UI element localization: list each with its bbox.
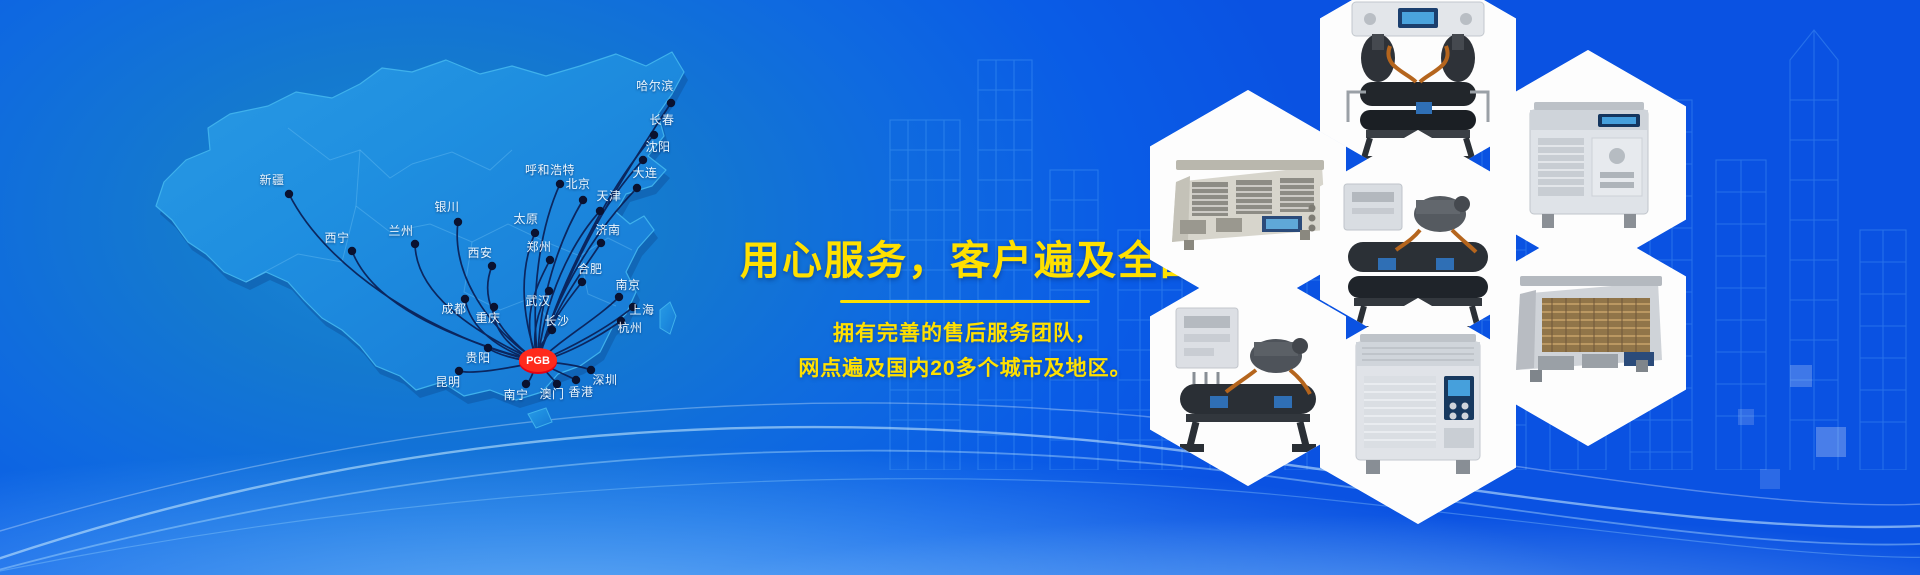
city-label: 大连 <box>632 167 657 179</box>
product-hexagon-grid <box>1150 0 1920 575</box>
city-label: 合肥 <box>577 263 602 275</box>
box-type-water-chiller-photo <box>1320 298 1516 524</box>
hub-marker[interactable]: PGB <box>519 348 557 374</box>
product-hex-condensing-unit[interactable] <box>1150 260 1346 486</box>
city-label: 上海 <box>629 304 654 316</box>
promo-banner: PGB 新疆哈尔滨长春沈阳呼和浩特北京大连天津银川太原兰州西宁西安郑州济南合肥南… <box>0 0 1920 575</box>
city-label: 昆明 <box>435 376 460 388</box>
city-label: 南宁 <box>503 389 528 401</box>
condensing-unit-photo <box>1150 260 1346 486</box>
city-label: 长沙 <box>544 315 569 327</box>
city-label: 兰州 <box>388 225 413 237</box>
city-label: 银川 <box>434 201 459 213</box>
headline-block: 用心服务，客户遍及全国 拥有完善的售后服务团队， 网点遍及国内20多个城市及地区… <box>740 238 1190 386</box>
city-label: 深圳 <box>592 374 617 386</box>
city-label: 郑州 <box>526 241 551 253</box>
city-label: 南京 <box>615 279 640 291</box>
page-title: 用心服务，客户遍及全国 <box>740 238 1190 284</box>
city-label: 杭州 <box>617 322 642 334</box>
map-graphic: PGB <box>60 10 800 450</box>
city-label: 贵阳 <box>465 352 490 364</box>
china-service-network-map: PGB 新疆哈尔滨长春沈阳呼和浩特北京大连天津银川太原兰州西宁西安郑州济南合肥南… <box>60 10 800 450</box>
city-label: 成都 <box>441 303 466 315</box>
subtitle-line-2: 网点遍及国内20多个城市及地区。 <box>740 352 1190 387</box>
title-divider <box>840 300 1090 303</box>
city-label: 重庆 <box>475 312 500 324</box>
city-label: 西安 <box>467 247 492 259</box>
city-label: 香港 <box>568 386 593 398</box>
city-label: 呼和浩特 <box>525 164 575 176</box>
svg-text:PGB: PGB <box>526 355 550 367</box>
product-hex-box-type-water-chiller[interactable] <box>1320 298 1516 524</box>
city-label: 北京 <box>565 178 590 190</box>
city-label: 西宁 <box>324 232 349 244</box>
subtitle-line-1: 拥有完善的售后服务团队， <box>740 317 1190 352</box>
city-label: 长春 <box>649 114 674 126</box>
city-label: 武汉 <box>525 295 550 307</box>
air-cooled-chiller-unit-photo <box>1490 220 1686 446</box>
city-label: 新疆 <box>259 174 284 186</box>
city-label: 济南 <box>595 224 620 236</box>
city-label: 澳门 <box>539 388 564 400</box>
city-label: 沈阳 <box>645 141 670 153</box>
product-hex-air-cooled-chiller-unit[interactable] <box>1490 220 1686 446</box>
city-label: 太原 <box>513 213 538 225</box>
city-label: 天津 <box>596 190 621 202</box>
city-label: 哈尔滨 <box>636 80 674 92</box>
